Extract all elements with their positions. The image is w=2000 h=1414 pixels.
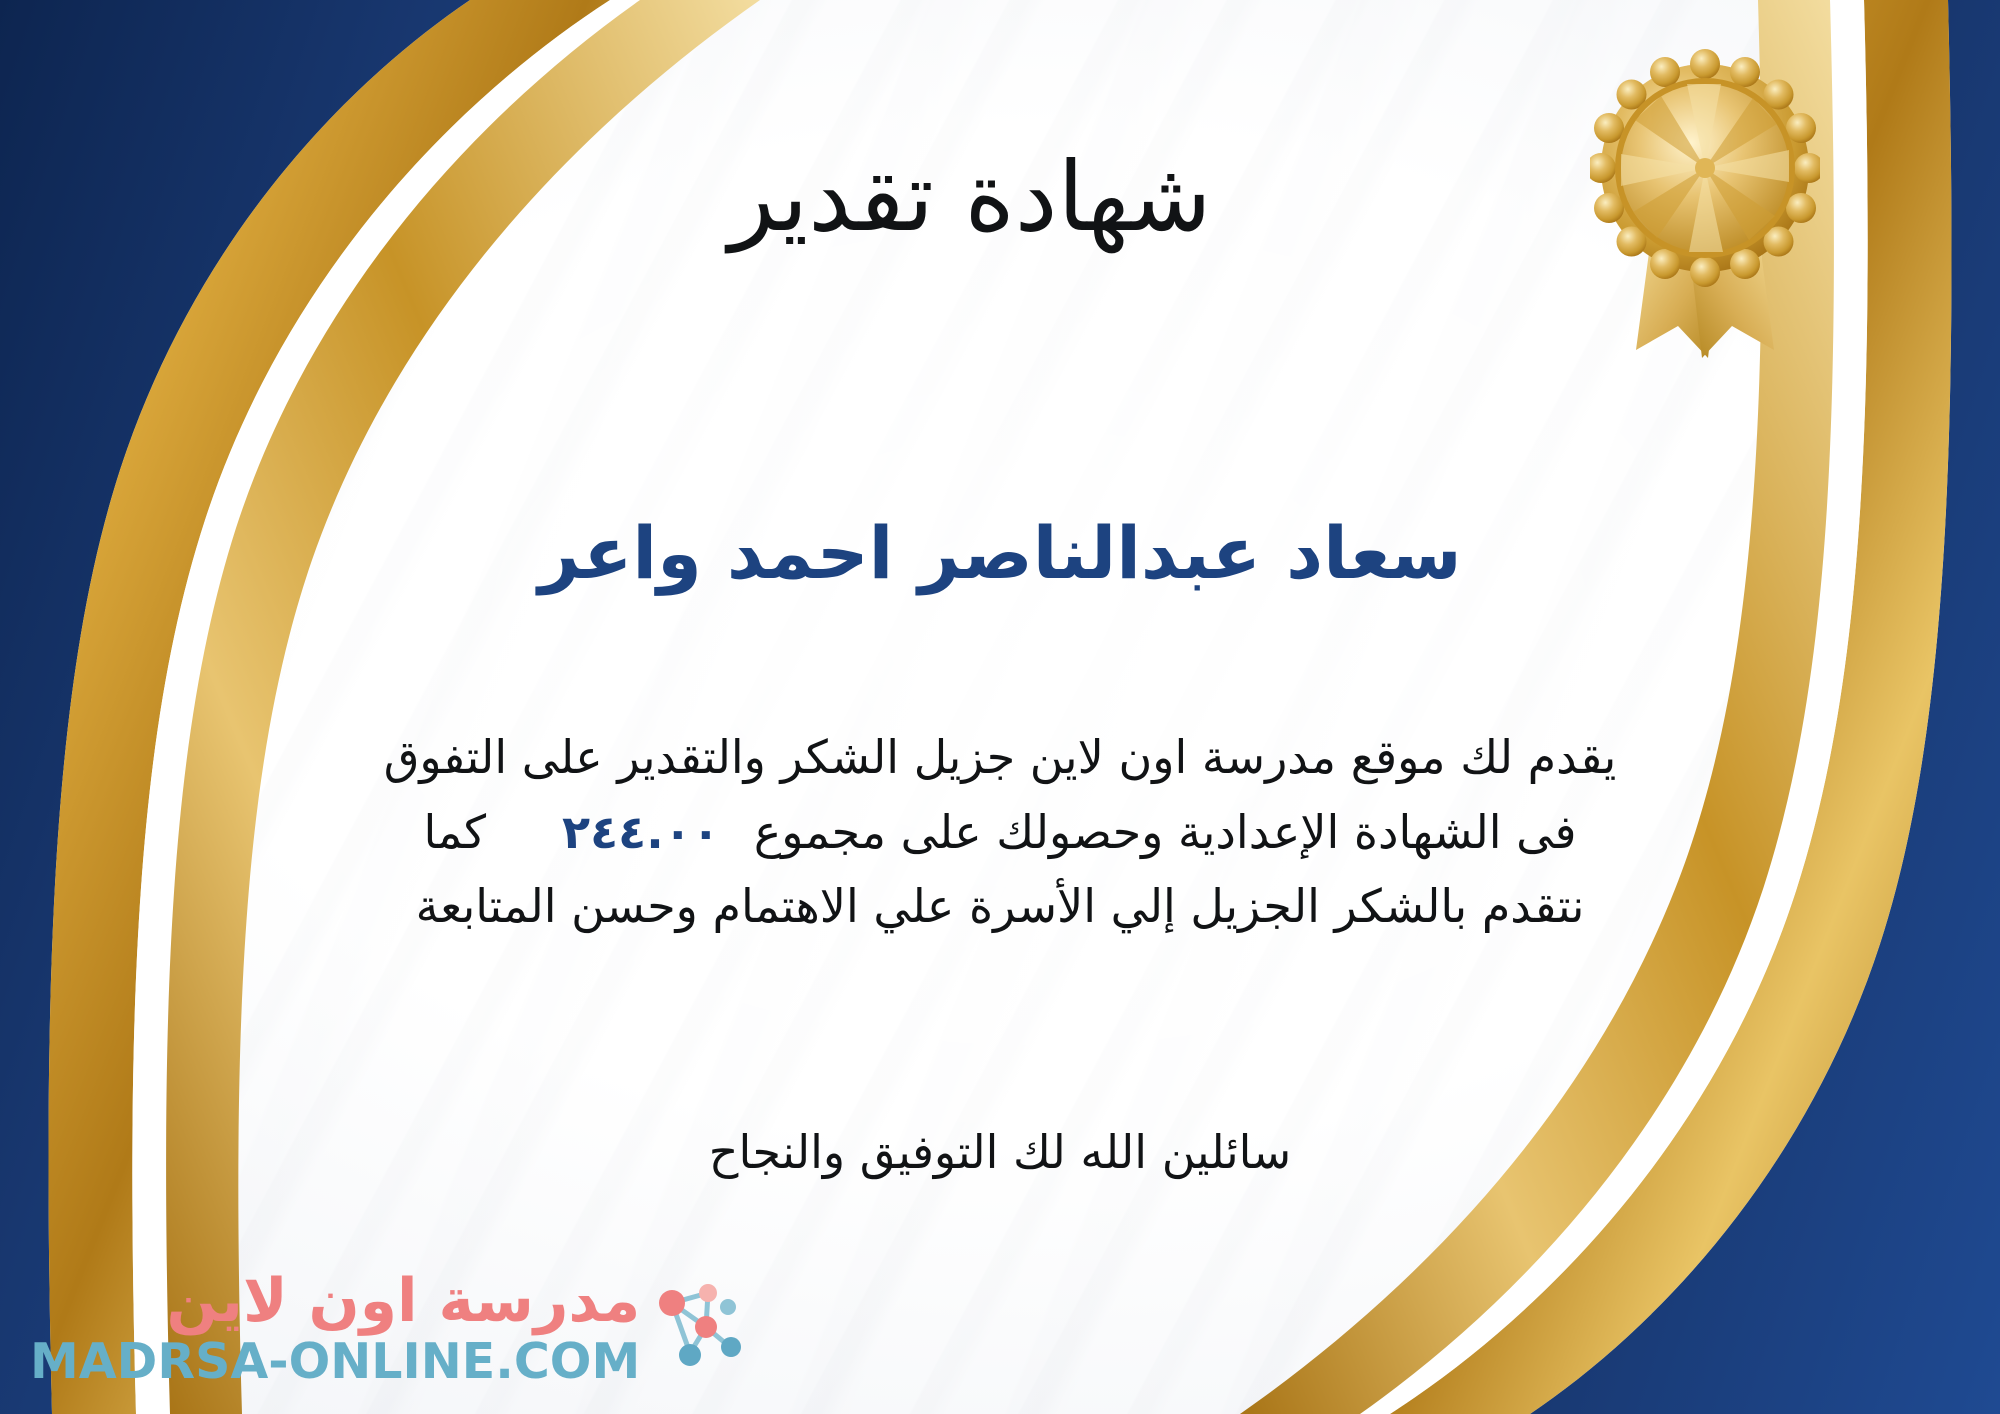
recipient-name: سعاد عبدالناصر احمد واعر xyxy=(0,508,2000,598)
certificate-page: شهادة تقدير سعاد عبدالناصر احمد واعر يقد… xyxy=(0,0,2000,1414)
brand-network-icon xyxy=(650,1277,742,1381)
certificate-title: شهادة تقدير xyxy=(0,140,2000,255)
total-score-value: ٢٤٤.٠٠ xyxy=(528,805,754,859)
closing-wish: سائلين الله لك التوفيق والنجاح xyxy=(0,1125,2000,1179)
certificate-body: يقدم لك موقع مدرسة اون لاين جزيل الشكر و… xyxy=(55,720,1945,944)
brand-text-group: مدرسة اون لاين MADRSA-ONLINE.COM xyxy=(30,1271,640,1386)
body-line-2-prefix: فى الشهادة الإعدادية وحصولك على مجموع xyxy=(754,805,1577,859)
body-line-2-suffix: كما xyxy=(423,805,486,859)
brand-logo[interactable]: مدرسة اون لاين MADRSA-ONLINE.COM xyxy=(30,1271,742,1386)
body-line-2: فى الشهادة الإعدادية وحصولك على مجموع٢٤٤… xyxy=(55,795,1945,870)
certificate-content: شهادة تقدير سعاد عبدالناصر احمد واعر يقد… xyxy=(0,0,2000,1414)
body-line-1: يقدم لك موقع مدرسة اون لاين جزيل الشكر و… xyxy=(55,720,1945,795)
body-line-3: نتقدم بالشكر الجزيل إلي الأسرة علي الاهت… xyxy=(55,869,1945,944)
brand-website-url: MADRSA-ONLINE.COM xyxy=(30,1337,640,1386)
brand-name-arabic: مدرسة اون لاين xyxy=(166,1271,640,1331)
